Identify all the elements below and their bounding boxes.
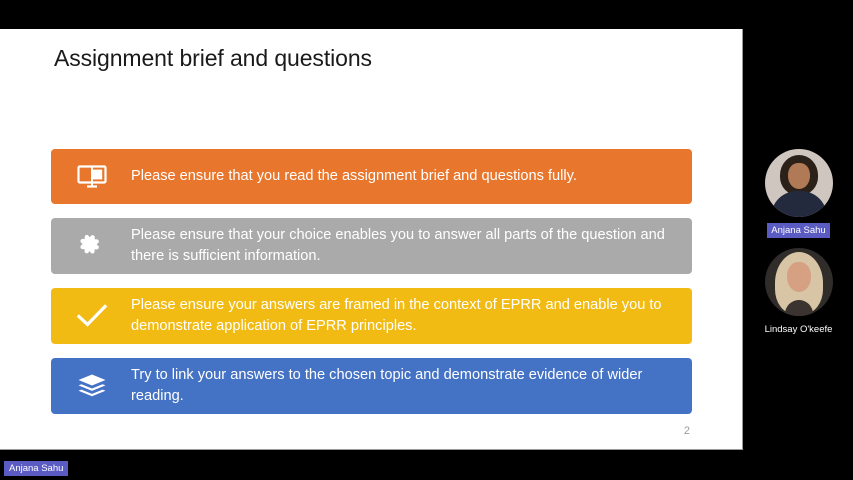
callout-row: Please ensure your answers are framed in… (51, 288, 692, 344)
callout-row: Please ensure that your choice enables y… (51, 218, 692, 274)
slide-page-number: 2 (684, 425, 690, 437)
callout-row: Please ensure that you read the assignme… (51, 149, 692, 204)
participant-tile[interactable]: Anjana Sahu (744, 149, 853, 238)
callout-text: Please ensure that you read the assignme… (121, 166, 678, 187)
avatar-face (787, 262, 811, 292)
participant-rail: Anjana Sahu Lindsay O'keefe (744, 29, 853, 450)
checkmark-icon (63, 296, 121, 336)
avatar (765, 248, 833, 316)
callout-row: Try to link your answers to the chosen t… (51, 358, 692, 414)
callout-text: Please ensure that your choice enables y… (121, 225, 678, 267)
open-book-icon (63, 157, 121, 197)
avatar (765, 149, 833, 217)
callout-list: Please ensure that you read the assignme… (51, 149, 692, 428)
participant-name: Anjana Sahu (767, 223, 829, 238)
active-speaker-badge: Anjana Sahu (4, 461, 68, 476)
avatar-face (788, 163, 810, 189)
puzzle-piece-icon (63, 226, 121, 266)
participant-tile[interactable]: Lindsay O'keefe (744, 248, 853, 337)
callout-text: Please ensure your answers are framed in… (121, 295, 678, 337)
page-title: Assignment brief and questions (54, 45, 372, 72)
callout-text: Try to link your answers to the chosen t… (121, 365, 678, 407)
book-stack-icon (63, 366, 121, 406)
shared-slide[interactable]: Assignment brief and questions Please en… (0, 29, 743, 450)
participant-name: Lindsay O'keefe (761, 322, 837, 337)
meeting-stage: Assignment brief and questions Please en… (0, 0, 853, 480)
